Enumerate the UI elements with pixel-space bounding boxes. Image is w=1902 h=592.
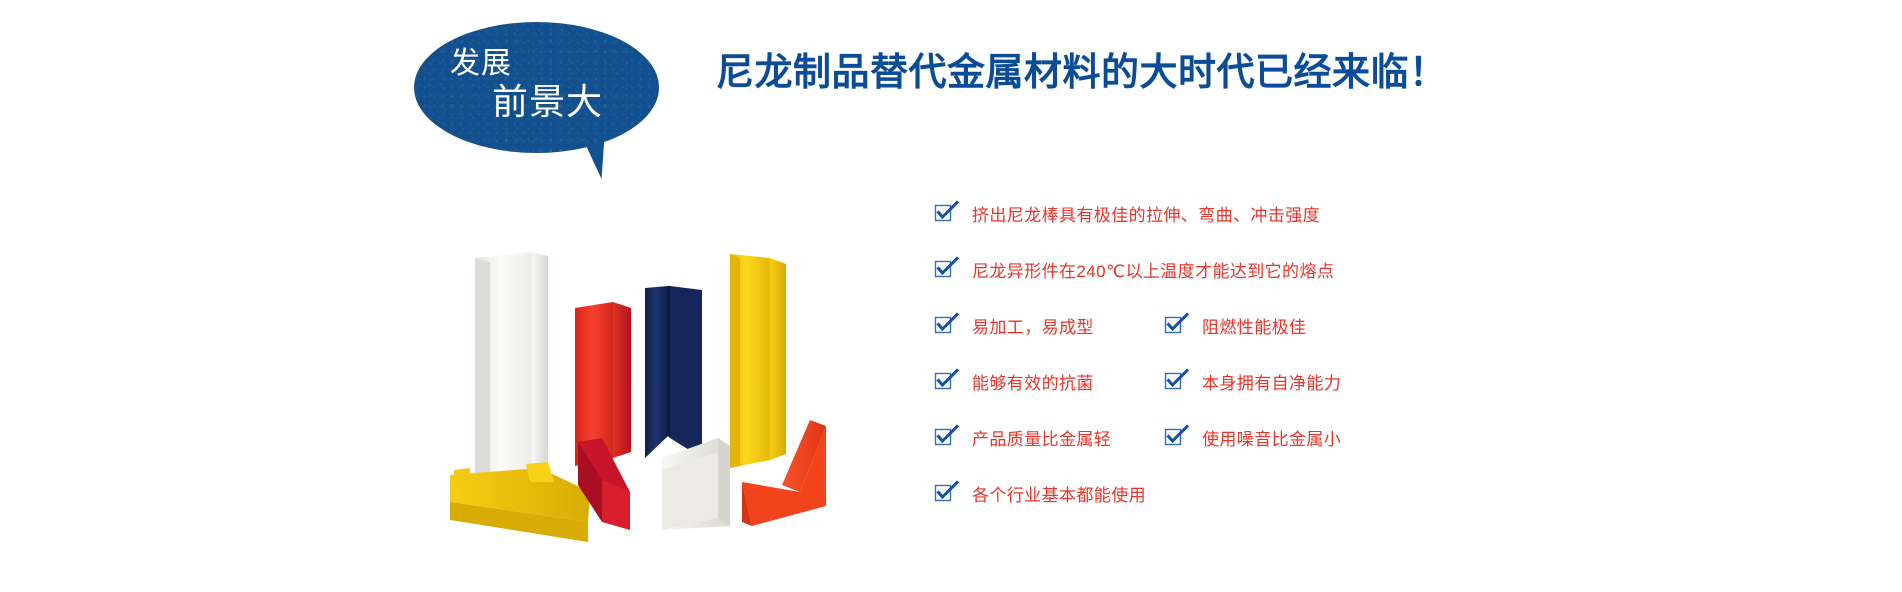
checkbox-checked-icon <box>936 260 954 278</box>
feature-item: 本身拥有自净能力 <box>1166 353 1341 409</box>
feature-label: 使用噪音比金属小 <box>1202 425 1341 450</box>
feature-row: 各个行业基本都能使用 <box>936 465 1496 521</box>
navy-u-channel-tall <box>645 286 702 458</box>
speech-bubble: 发展 前景大 <box>414 22 674 187</box>
feature-label: 本身拥有自净能力 <box>1202 369 1341 394</box>
feature-list: 挤出尼龙棒具有极佳的拉伸、弯曲、冲击强度 尼龙异形件在240℃以上温度才能达到它… <box>936 185 1496 521</box>
feature-item: 阻燃性能极佳 <box>1166 297 1306 353</box>
feature-label: 各个行业基本都能使用 <box>972 481 1146 506</box>
promo-banner: 发展 前景大 尼龙制品替代金属材料的大时代已经来临！ <box>0 0 1902 592</box>
feature-item: 尼龙异形件在240℃以上温度才能达到它的熔点 <box>936 241 1334 297</box>
feature-item: 使用噪音比金属小 <box>1166 409 1341 465</box>
checkbox-checked-icon <box>936 372 954 390</box>
checkbox-checked-icon <box>1166 316 1184 334</box>
yellow-u-channel-base <box>450 462 590 542</box>
checkbox-checked-icon <box>936 204 954 222</box>
feature-label: 能够有效的抗菌 <box>972 369 1094 394</box>
feature-row: 尼龙异形件在240℃以上温度才能达到它的熔点 <box>936 241 1496 297</box>
feature-label: 产品质量比金属轻 <box>972 425 1111 450</box>
feature-item: 各个行业基本都能使用 <box>936 465 1146 521</box>
product-photo <box>430 230 850 555</box>
checkbox-checked-icon <box>936 428 954 446</box>
checkbox-checked-icon <box>936 316 954 334</box>
speech-bubble-text: 发展 前景大 <box>414 22 659 153</box>
checkbox-checked-icon <box>1166 372 1184 390</box>
speech-bubble-line-1: 发展 <box>450 49 512 79</box>
page-title: 尼龙制品替代金属材料的大时代已经来临！ <box>716 52 1448 96</box>
white-u-channel-short <box>662 438 730 530</box>
feature-item: 易加工，易成型 <box>936 297 1094 353</box>
feature-item: 产品质量比金属轻 <box>936 409 1111 465</box>
feature-item: 挤出尼龙棒具有极佳的拉伸、弯曲、冲击强度 <box>936 185 1320 241</box>
feature-row: 易加工，易成型 阻燃性能极佳 <box>936 297 1496 353</box>
product-photo-illustration <box>430 230 850 555</box>
feature-row: 能够有效的抗菌 本身拥有自净能力 <box>936 353 1496 409</box>
feature-label: 阻燃性能极佳 <box>1202 313 1306 338</box>
feature-item: 能够有效的抗菌 <box>936 353 1094 409</box>
feature-row: 产品质量比金属轻 使用噪音比金属小 <box>936 409 1496 465</box>
yellow-u-channel-tall <box>730 254 786 468</box>
feature-label: 尼龙异形件在240℃以上温度才能达到它的熔点 <box>972 257 1334 282</box>
checkbox-checked-icon <box>936 484 954 502</box>
feature-row: 挤出尼龙棒具有极佳的拉伸、弯曲、冲击强度 <box>936 185 1496 241</box>
white-u-channel-tall <box>475 252 548 482</box>
checkbox-checked-icon <box>1166 428 1184 446</box>
speech-bubble-line-2: 前景大 <box>492 84 603 120</box>
feature-label: 易加工，易成型 <box>972 313 1094 338</box>
feature-label: 挤出尼龙棒具有极佳的拉伸、弯曲、冲击强度 <box>972 201 1320 226</box>
